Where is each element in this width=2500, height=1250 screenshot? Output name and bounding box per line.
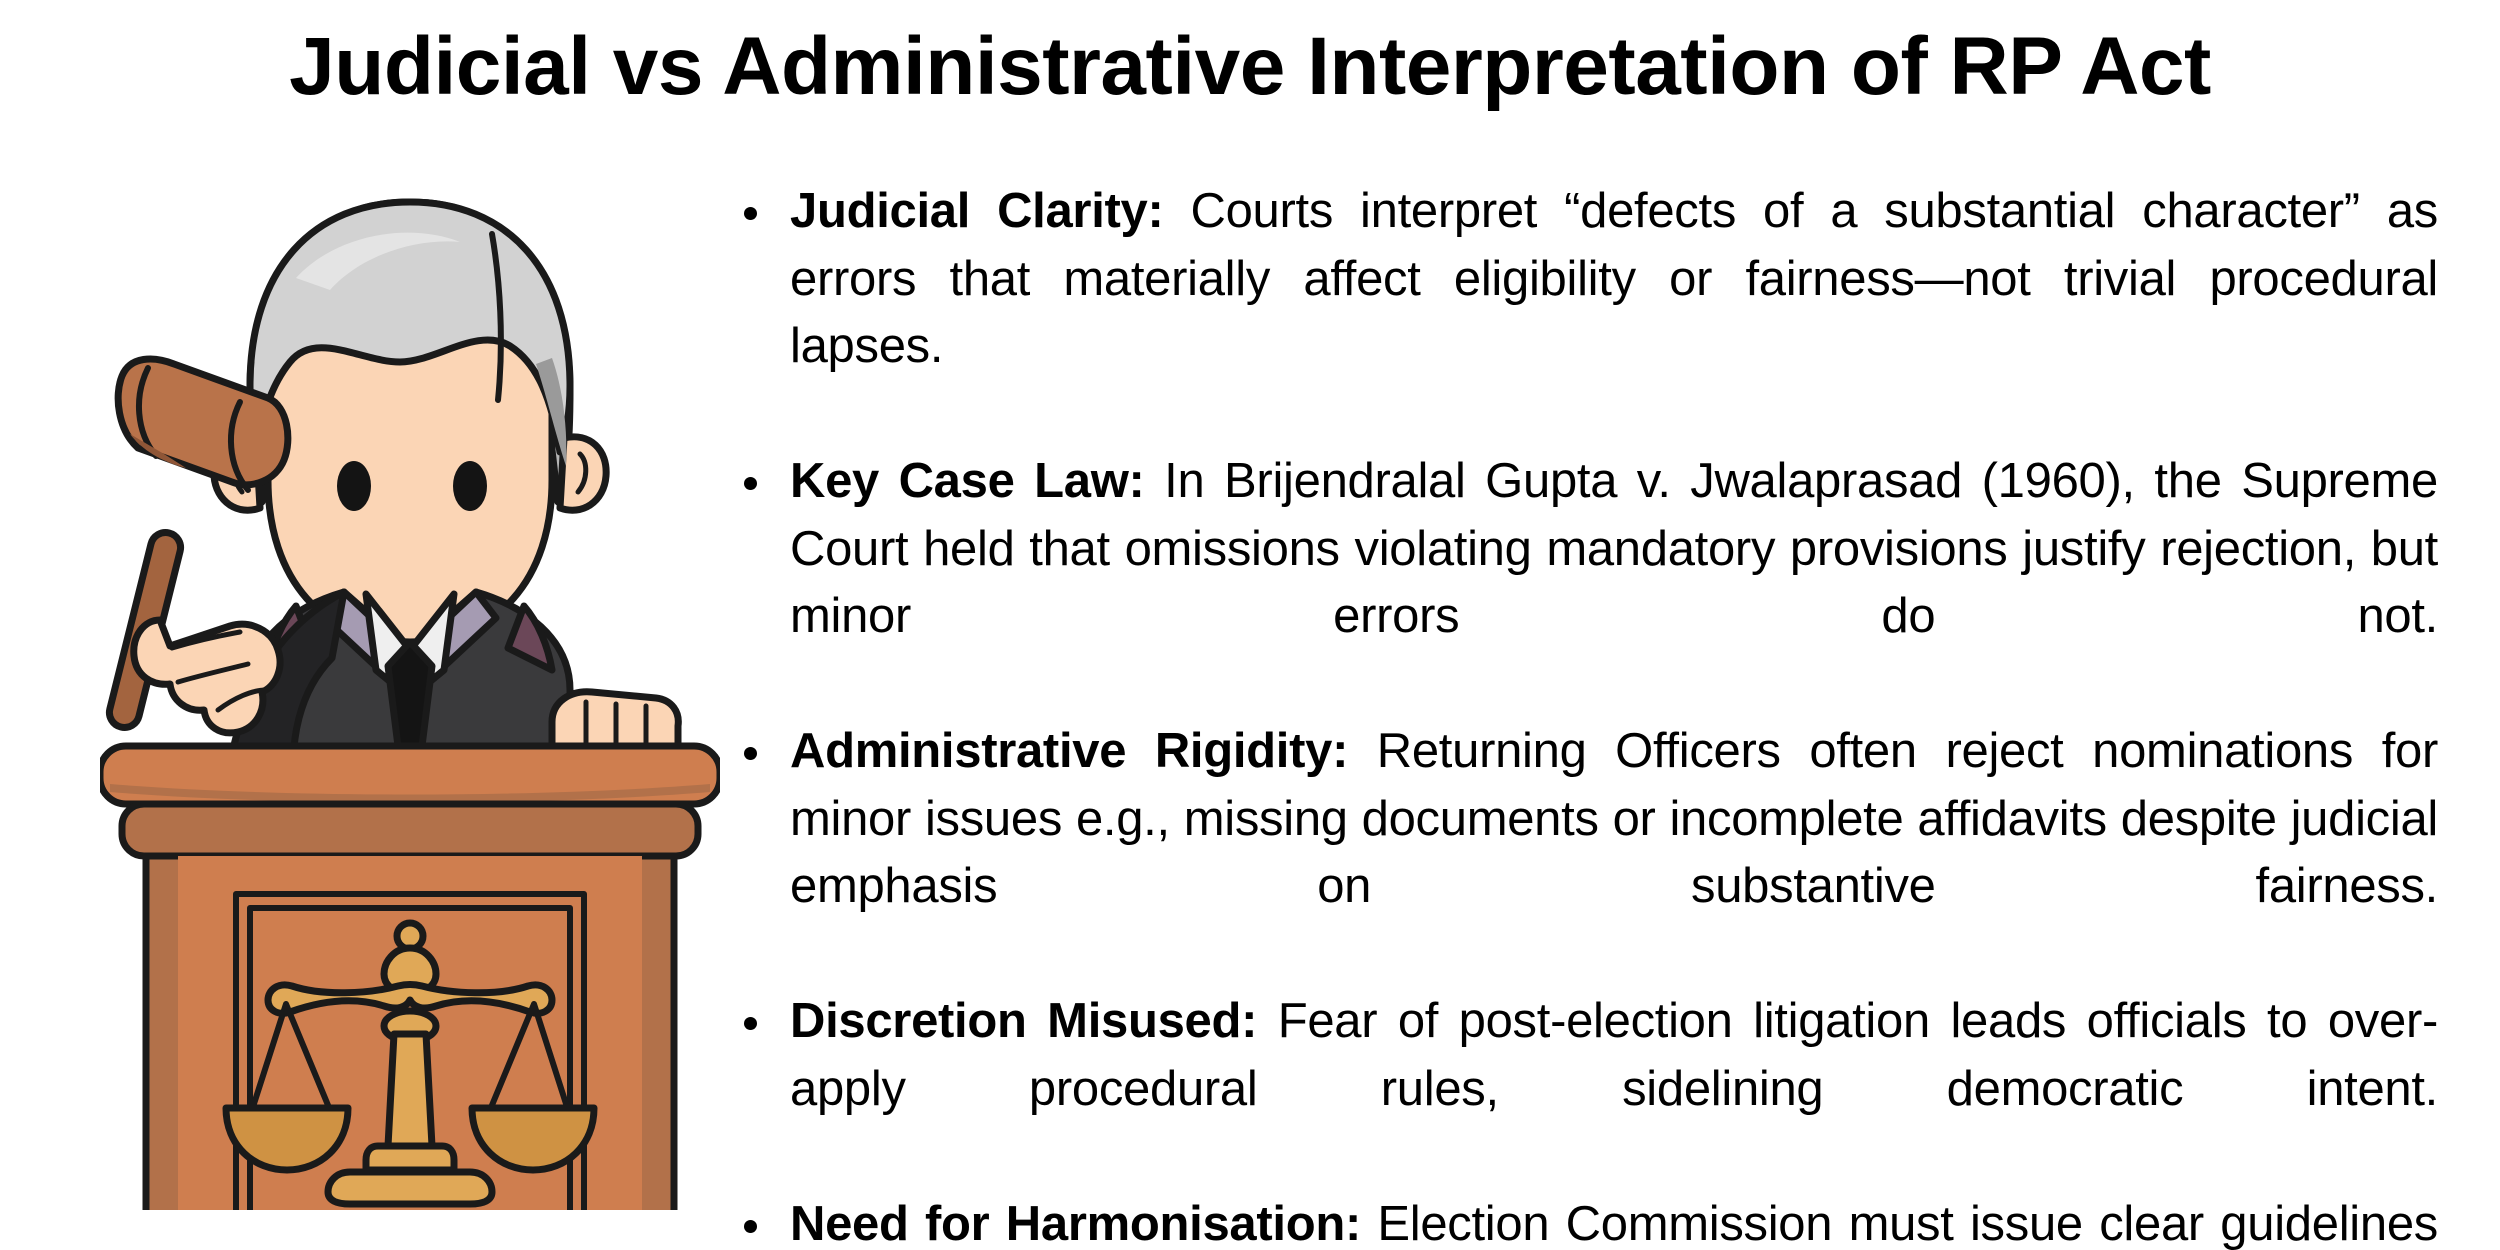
bullet-item: Key Case Law: In Brijendralal Gupta v. J… bbox=[732, 448, 2438, 718]
slide-root: Judicial vs Administrative Interpretatio… bbox=[0, 0, 2500, 1250]
bullet-lead: Discretion Misused: bbox=[790, 994, 1257, 1048]
eye-right bbox=[453, 461, 487, 511]
judge-illustration bbox=[100, 150, 720, 1210]
bullet-list-container: Judicial Clarity: Courts interpret “defe… bbox=[732, 178, 2438, 1250]
bullet-lead: Need for Harmonisation: bbox=[790, 1197, 1361, 1250]
scales-foot-upper bbox=[366, 1146, 454, 1170]
bullet-item: Judicial Clarity: Courts interpret “defe… bbox=[732, 178, 2438, 448]
bullet-item: Discretion Misused: Fear of post-electio… bbox=[732, 988, 2438, 1191]
bullet-lead: Administrative Rigidity: bbox=[790, 724, 1348, 778]
bullet-item: Administrative Rigidity: Returning Offic… bbox=[732, 718, 2438, 988]
page-title: Judicial vs Administrative Interpretatio… bbox=[0, 26, 2500, 108]
bullet-list: Judicial Clarity: Courts interpret “defe… bbox=[732, 178, 2438, 1250]
ear-right bbox=[560, 437, 606, 510]
judge-with-gavel-icon bbox=[100, 150, 720, 1210]
podium-second-tier bbox=[122, 804, 698, 856]
bullet-item: Need for Harmonisation: Election Commiss… bbox=[732, 1191, 2438, 1250]
scales-post bbox=[388, 1034, 432, 1146]
scales-foot-base bbox=[328, 1172, 492, 1204]
bullet-lead: Key Case Law: bbox=[790, 454, 1145, 508]
bullet-lead: Judicial Clarity: bbox=[790, 184, 1164, 238]
eye-left bbox=[337, 461, 371, 511]
